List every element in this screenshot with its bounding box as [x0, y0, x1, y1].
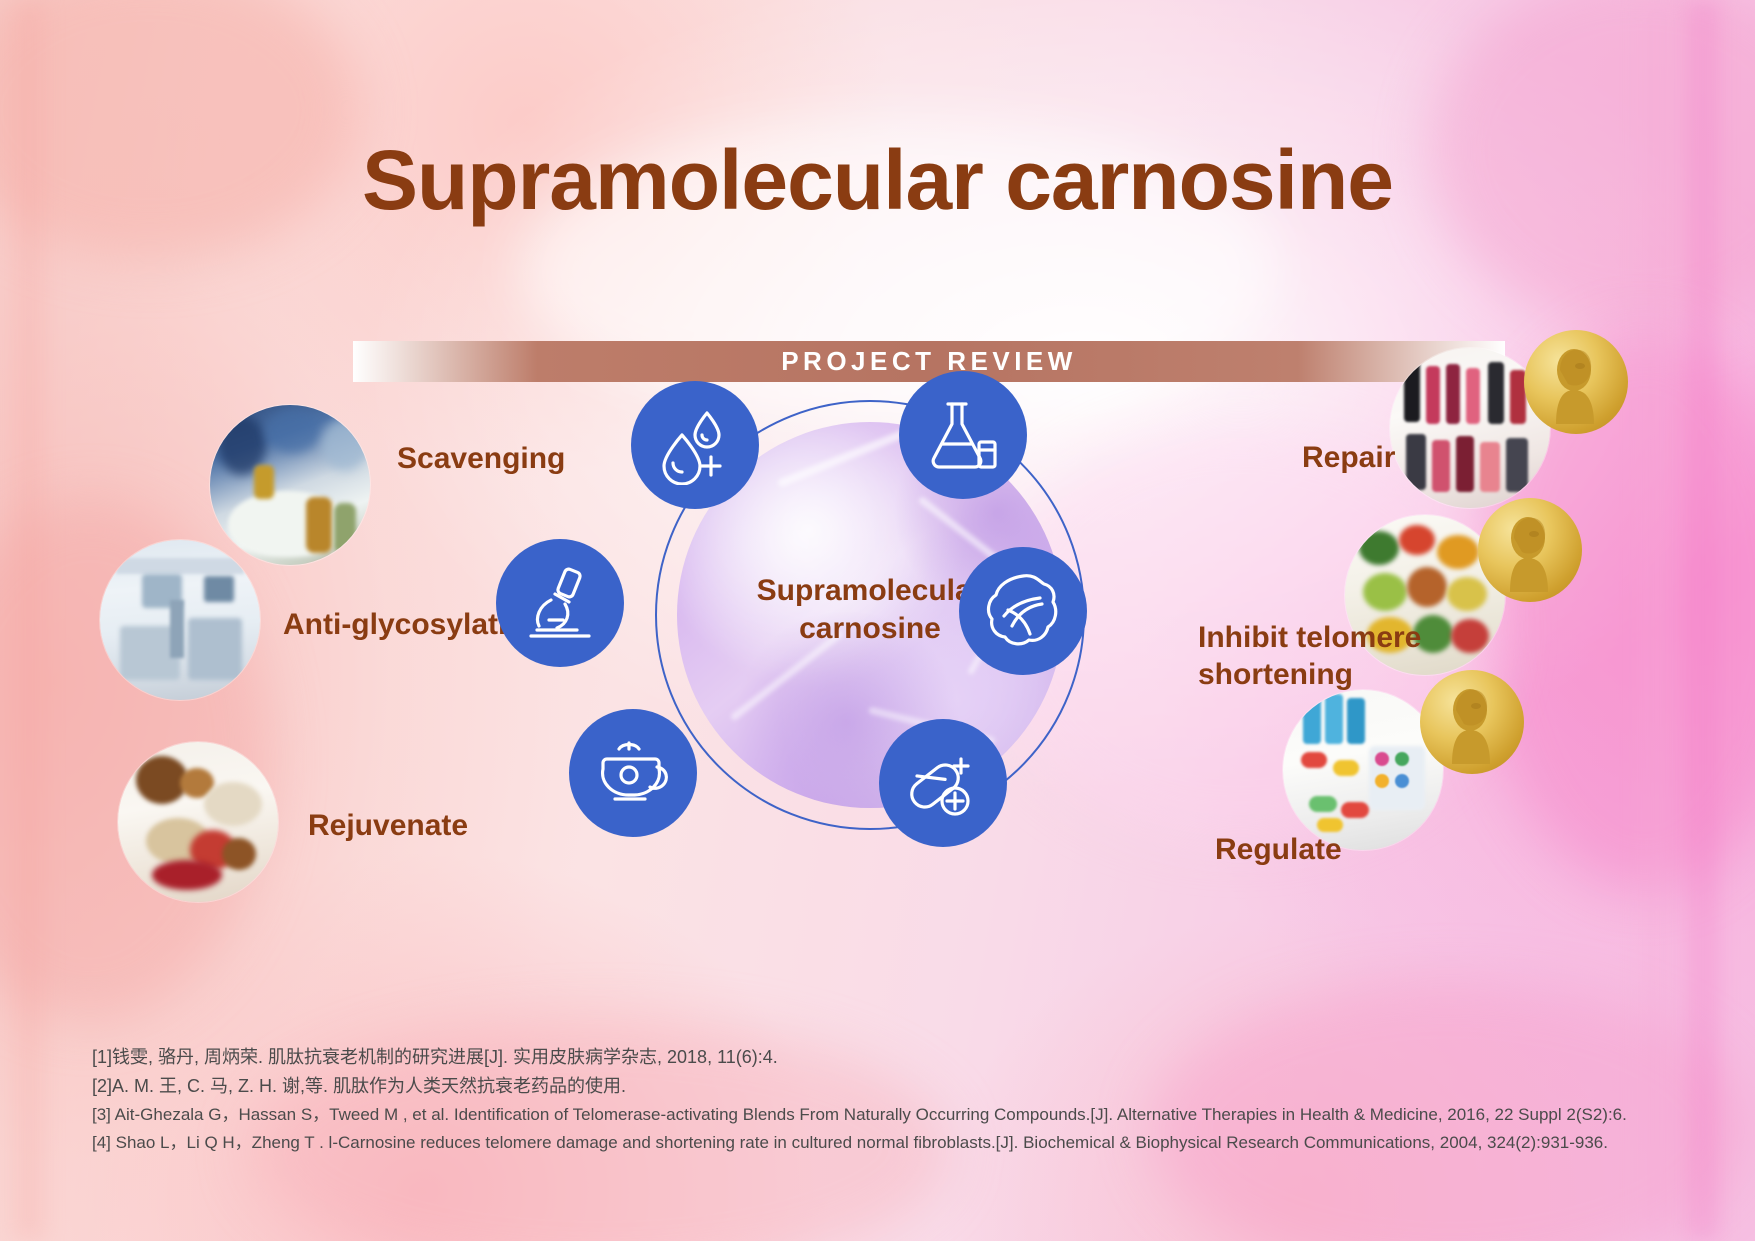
water-drops-plus-glyph — [655, 405, 735, 485]
section-banner: PROJECT REVIEW — [353, 341, 1505, 382]
label-rejuvenate: Rejuvenate — [308, 808, 468, 845]
label-scavenging: Scavenging — [397, 441, 565, 478]
flask-icon[interactable] — [899, 371, 1027, 499]
label-repair: Repair — [1302, 440, 1395, 477]
water-drops-plus-icon[interactable] — [631, 381, 759, 509]
medal-portrait — [1436, 680, 1508, 764]
reference-item: [1]钱雯, 骆丹, 周炳荣. 肌肽抗衰老机制的研究进展[J]. 实用皮肤病学杂… — [92, 1043, 1712, 1072]
teapot-glyph — [593, 733, 673, 813]
leaf-cell-glyph — [982, 570, 1064, 652]
nobel-medal-icon — [1478, 498, 1582, 602]
nobel-medal-icon — [1420, 670, 1524, 774]
page-title: Supramolecular carnosine — [0, 132, 1755, 229]
nobel-medal-icon — [1524, 330, 1628, 434]
section-banner-label: PROJECT REVIEW — [353, 341, 1505, 382]
herbal-medicine-photo — [118, 742, 278, 902]
reference-item: [4] Shao L，Li Q H，Zheng T . l-Carnosine … — [92, 1129, 1712, 1157]
clean-room-lab-photo — [100, 540, 260, 700]
label-regulate: Regulate — [1215, 832, 1342, 869]
microscope-glyph — [521, 564, 599, 642]
reference-item: [3] Ait-Ghezala G，Hassan S，Tweed M , et … — [92, 1101, 1712, 1129]
label-inhibit-telomere-shortening: Inhibit telomere shortening — [1198, 620, 1421, 693]
microscope-icon[interactable] — [496, 539, 624, 667]
leaf-cell-icon[interactable] — [959, 547, 1087, 675]
medal-portrait — [1540, 340, 1612, 424]
reference-item: [2]A. M. 王, C. 马, Z. H. 谢,等. 肌肽作为人类天然抗衰老… — [92, 1072, 1712, 1101]
teapot-icon[interactable] — [569, 709, 697, 837]
medal-portrait — [1494, 508, 1566, 592]
capsule-plus-icon[interactable] — [879, 719, 1007, 847]
slide-canvas: Supramolecular carnosine PROJECT REVIEW — [0, 0, 1755, 1241]
flask-glyph — [924, 396, 1002, 474]
references-block: [1]钱雯, 骆丹, 周炳荣. 肌肽抗衰老机制的研究进展[J]. 实用皮肤病学杂… — [92, 1043, 1712, 1156]
medicine-pills-photo — [1283, 690, 1443, 850]
capsule-plus-glyph — [903, 743, 983, 823]
